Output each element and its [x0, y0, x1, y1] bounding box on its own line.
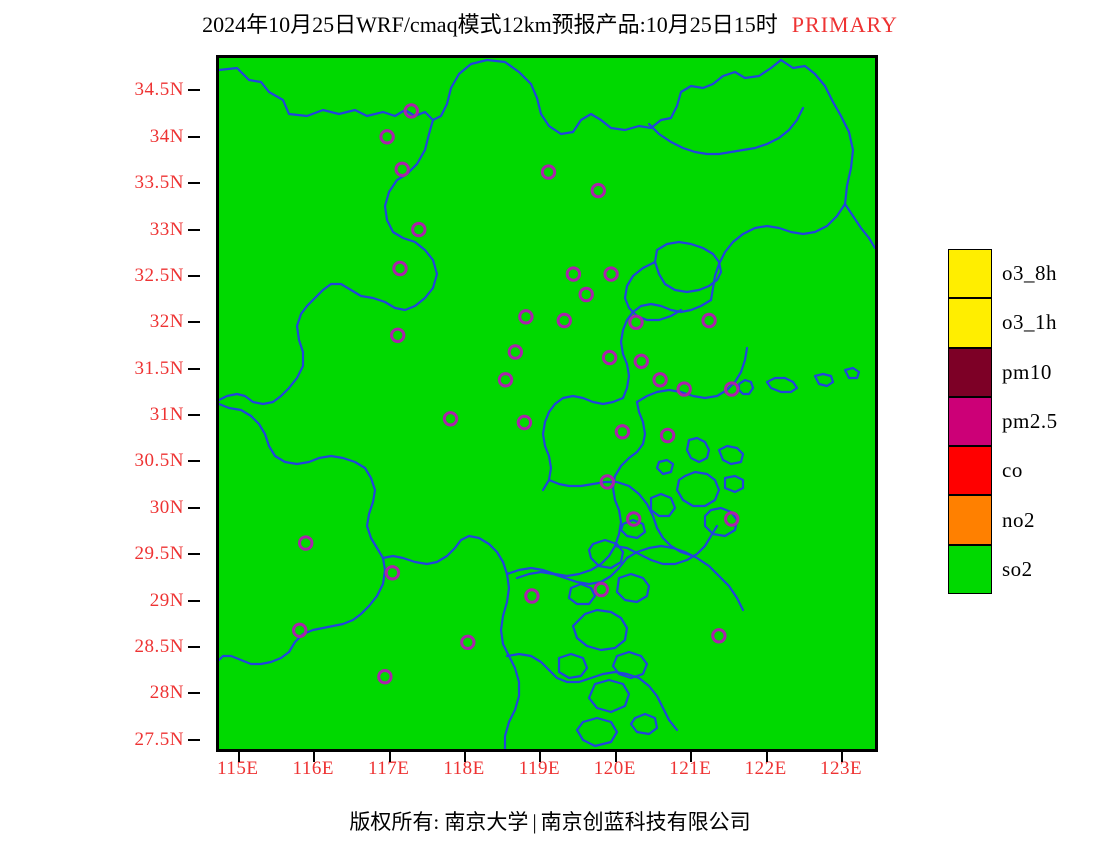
longitude-tick-label-7: 122E — [745, 758, 787, 780]
station-marker[interactable] — [526, 590, 538, 602]
status-badge: PRIMARY — [792, 12, 898, 37]
station-marker[interactable] — [509, 346, 521, 358]
station-marker[interactable] — [518, 416, 530, 428]
station-marker[interactable] — [558, 314, 570, 326]
legend-item-o3-1h[interactable]: o3_1h — [948, 298, 1098, 347]
longitude-tick-mark-7 — [766, 752, 768, 762]
station-marker[interactable] — [294, 624, 306, 636]
copyright-company: 南京创蓝科技有限公司 — [541, 810, 751, 834]
station-marker[interactable] — [603, 351, 615, 363]
longitude-tick-label-5: 120E — [594, 758, 636, 780]
legend-label-2: pm10 — [1002, 360, 1052, 385]
legend-swatch-0 — [948, 249, 992, 298]
station-marker[interactable] — [379, 671, 391, 683]
latitude-tick-mark-6 — [188, 368, 200, 370]
latitude-tick-mark-2 — [188, 182, 200, 184]
latitude-tick-label-13: 28N — [150, 682, 184, 704]
legend-swatch-5 — [948, 495, 992, 544]
station-marker[interactable] — [616, 426, 628, 438]
legend-swatch-6 — [948, 545, 992, 594]
forecast-map[interactable] — [216, 55, 878, 752]
longitude-tick-label-2: 117E — [368, 758, 409, 780]
latitude-tick-label-6: 31.5N — [135, 358, 184, 380]
station-marker[interactable] — [654, 374, 666, 386]
latitude-tick-label-4: 32.5N — [135, 265, 184, 287]
station-marker[interactable] — [462, 636, 474, 648]
station-marker[interactable] — [595, 583, 607, 595]
station-marker[interactable] — [661, 429, 673, 441]
legend-swatch-2 — [948, 348, 992, 397]
legend-item-no2[interactable]: no2 — [948, 495, 1098, 544]
longitude-tick-mark-3 — [464, 752, 466, 762]
longitude-tick-mark-4 — [539, 752, 541, 762]
station-marker[interactable] — [635, 355, 647, 367]
station-marker[interactable] — [392, 329, 404, 341]
station-marker[interactable] — [381, 131, 393, 143]
latitude-tick-label-7: 31N — [150, 404, 184, 426]
legend-item-so2[interactable]: so2 — [948, 545, 1098, 594]
copyright-footer: 版权所有: 南京大学|南京创蓝科技有限公司 — [0, 806, 1100, 836]
latitude-tick-mark-7 — [188, 414, 200, 416]
station-marker[interactable] — [703, 314, 715, 326]
latitude-tick-mark-5 — [188, 321, 200, 323]
legend-item-o3-8h[interactable]: o3_8h — [948, 249, 1098, 298]
latitude-tick-label-14: 27.5N — [135, 729, 184, 751]
longitude-tick-label-6: 121E — [669, 758, 711, 780]
latitude-tick-label-12: 28.5N — [135, 636, 184, 658]
latitude-tick-label-11: 29N — [150, 590, 184, 612]
legend-item-pm10[interactable]: pm10 — [948, 348, 1098, 397]
station-marker[interactable] — [542, 166, 554, 178]
latitude-tick-label-1: 34N — [150, 126, 184, 148]
latitude-tick-mark-11 — [188, 600, 200, 602]
legend-swatch-1 — [948, 298, 992, 347]
station-marker[interactable] — [592, 184, 604, 196]
station-marker[interactable] — [713, 630, 725, 642]
latitude-tick-label-0: 34.5N — [135, 79, 184, 101]
longitude-tick-mark-5 — [615, 752, 617, 762]
longitude-tick-mark-6 — [690, 752, 692, 762]
latitude-tick-label-9: 30N — [150, 497, 184, 519]
longitude-tick-label-1: 116E — [293, 758, 334, 780]
station-marker[interactable] — [386, 567, 398, 579]
map-geometry — [219, 58, 875, 749]
longitude-tick-mark-0 — [238, 752, 240, 762]
station-marker[interactable] — [520, 311, 532, 323]
station-marker[interactable] — [567, 268, 579, 280]
latitude-tick-label-5: 32N — [150, 311, 184, 333]
legend-label-1: o3_1h — [1002, 310, 1057, 335]
copyright-owner: 版权所有: 南京大学 — [349, 810, 528, 834]
legend-item-co[interactable]: co — [948, 446, 1098, 495]
station-marker[interactable] — [499, 374, 511, 386]
latitude-tick-mark-4 — [188, 275, 200, 277]
station-marker[interactable] — [394, 262, 406, 274]
longitude-tick-mark-1 — [313, 752, 315, 762]
station-marker[interactable] — [605, 268, 617, 280]
longitude-tick-label-3: 118E — [443, 758, 484, 780]
station-marker[interactable] — [444, 413, 456, 425]
legend-swatch-3 — [948, 397, 992, 446]
chart-canvas: 2024年10月25日WRF/cmaq模式12km预报产品:10月25日15时P… — [0, 0, 1100, 850]
station-marker[interactable] — [628, 513, 640, 525]
longitude-tick-label-0: 115E — [217, 758, 258, 780]
legend-label-5: no2 — [1002, 508, 1035, 533]
latitude-tick-mark-8 — [188, 460, 200, 462]
station-marker[interactable] — [413, 223, 425, 235]
latitude-axis: 34.5N34N33.5N33N32.5N32N31.5N31N30.5N30N… — [0, 0, 216, 850]
latitude-tick-mark-10 — [188, 553, 200, 555]
station-marker[interactable] — [580, 288, 592, 300]
page-title-text: 2024年10月25日WRF/cmaq模式12km预报产品:10月25日15时 — [202, 12, 778, 37]
legend-label-0: o3_8h — [1002, 261, 1057, 286]
latitude-tick-label-10: 29.5N — [135, 543, 184, 565]
legend-label-3: pm2.5 — [1002, 409, 1058, 434]
footer-separator: | — [532, 810, 536, 834]
station-marker[interactable] — [396, 163, 408, 175]
legend-item-pm2-5[interactable]: pm2.5 — [948, 397, 1098, 446]
latitude-tick-mark-14 — [188, 739, 200, 741]
legend-label-4: co — [1002, 458, 1023, 483]
longitude-tick-mark-8 — [841, 752, 843, 762]
station-marker[interactable] — [630, 316, 642, 328]
latitude-tick-label-2: 33.5N — [135, 172, 184, 194]
longitude-tick-mark-2 — [389, 752, 391, 762]
legend-label-6: so2 — [1002, 557, 1033, 582]
latitude-tick-mark-12 — [188, 646, 200, 648]
pollutant-legend: o3_8ho3_1hpm10pm2.5cono2so2 — [948, 249, 1098, 594]
latitude-tick-label-8: 30.5N — [135, 450, 184, 472]
latitude-tick-mark-3 — [188, 229, 200, 231]
station-marker[interactable] — [300, 537, 312, 549]
longitude-tick-label-8: 123E — [820, 758, 862, 780]
latitude-tick-mark-0 — [188, 89, 200, 91]
latitude-tick-label-3: 33N — [150, 219, 184, 241]
latitude-tick-mark-1 — [188, 136, 200, 138]
latitude-tick-mark-9 — [188, 507, 200, 509]
longitude-tick-label-4: 119E — [519, 758, 560, 780]
latitude-tick-mark-13 — [188, 692, 200, 694]
legend-swatch-4 — [948, 446, 992, 495]
